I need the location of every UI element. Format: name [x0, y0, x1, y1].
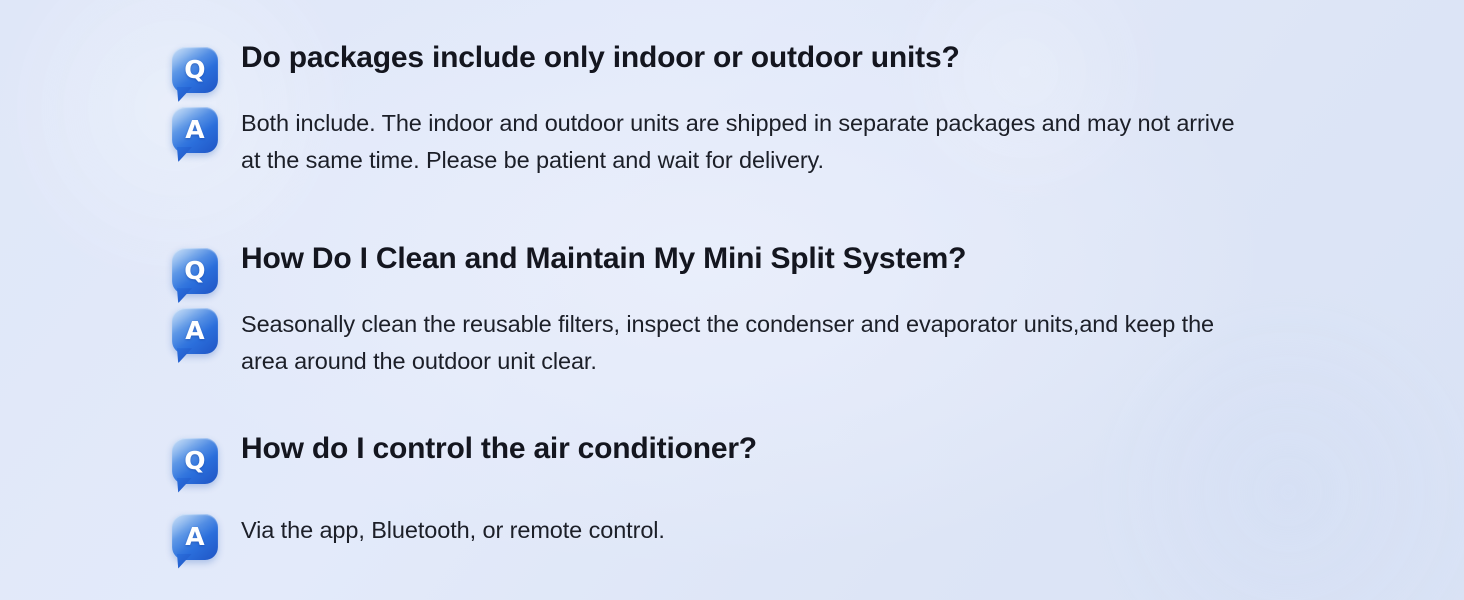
- faq-answer-text-wrap: Both include. The indoor and outdoor uni…: [241, 105, 1344, 179]
- question-bubble-icon: Q: [172, 248, 218, 294]
- faq-question-text-wrap: How Do I Clean and Maintain My Mini Spli…: [241, 241, 1344, 278]
- faq-answer-row: A Seasonally clean the reusable filters,…: [172, 306, 1344, 380]
- faq-answer-text-wrap: Via the app, Bluetooth, or remote contro…: [241, 512, 1344, 549]
- answer-bubble-icon: A: [172, 107, 218, 153]
- answer-bubble-icon: A: [172, 514, 218, 560]
- faq-answer-row: A Via the app, Bluetooth, or remote cont…: [172, 512, 1344, 560]
- faq-answer-text-wrap: Seasonally clean the reusable filters, i…: [241, 306, 1344, 380]
- answer-bubble-icon: A: [172, 308, 218, 354]
- bubble-tail: [177, 147, 192, 162]
- answer-badge-letter: A: [185, 524, 205, 549]
- faq-panel: Q Do packages include only indoor or out…: [0, 0, 1464, 600]
- question-badge-letter: Q: [184, 258, 205, 283]
- answer-badge-letter: A: [185, 117, 205, 142]
- bubble-tail: [177, 348, 192, 363]
- question-badge-letter: Q: [184, 448, 205, 473]
- faq-item: Q Do packages include only indoor or out…: [172, 40, 1344, 179]
- bubble-tail: [177, 478, 192, 493]
- faq-question-row[interactable]: Q How Do I Clean and Maintain My Mini Sp…: [172, 241, 1344, 294]
- bubble-tail: [177, 87, 192, 102]
- bubble-tail: [177, 288, 192, 303]
- question-bubble-icon: Q: [172, 47, 218, 93]
- question-bubble-icon: Q: [172, 438, 218, 484]
- faq-question-text: How Do I Clean and Maintain My Mini Spli…: [241, 241, 1251, 278]
- faq-question-text-wrap: How do I control the air conditioner?: [241, 431, 1344, 468]
- faq-answer-text: Seasonally clean the reusable filters, i…: [241, 306, 1226, 380]
- answer-badge-letter: A: [185, 318, 205, 343]
- faq-question-row[interactable]: Q Do packages include only indoor or out…: [172, 40, 1344, 93]
- bubble-tail: [177, 554, 192, 569]
- faq-answer-text: Via the app, Bluetooth, or remote contro…: [241, 512, 1241, 549]
- faq-question-row[interactable]: Q How do I control the air conditioner?: [172, 431, 1344, 484]
- question-badge-letter: Q: [184, 57, 205, 82]
- faq-question-text: Do packages include only indoor or outdo…: [241, 40, 1251, 77]
- faq-question-text: How do I control the air conditioner?: [241, 431, 1251, 468]
- faq-answer-row: A Both include. The indoor and outdoor u…: [172, 105, 1344, 179]
- faq-list: Q Do packages include only indoor or out…: [172, 40, 1344, 560]
- faq-item: Q How Do I Clean and Maintain My Mini Sp…: [172, 241, 1344, 380]
- faq-question-text-wrap: Do packages include only indoor or outdo…: [241, 40, 1344, 77]
- faq-answer-text: Both include. The indoor and outdoor uni…: [241, 105, 1241, 179]
- faq-item: Q How do I control the air conditioner? …: [172, 431, 1344, 560]
